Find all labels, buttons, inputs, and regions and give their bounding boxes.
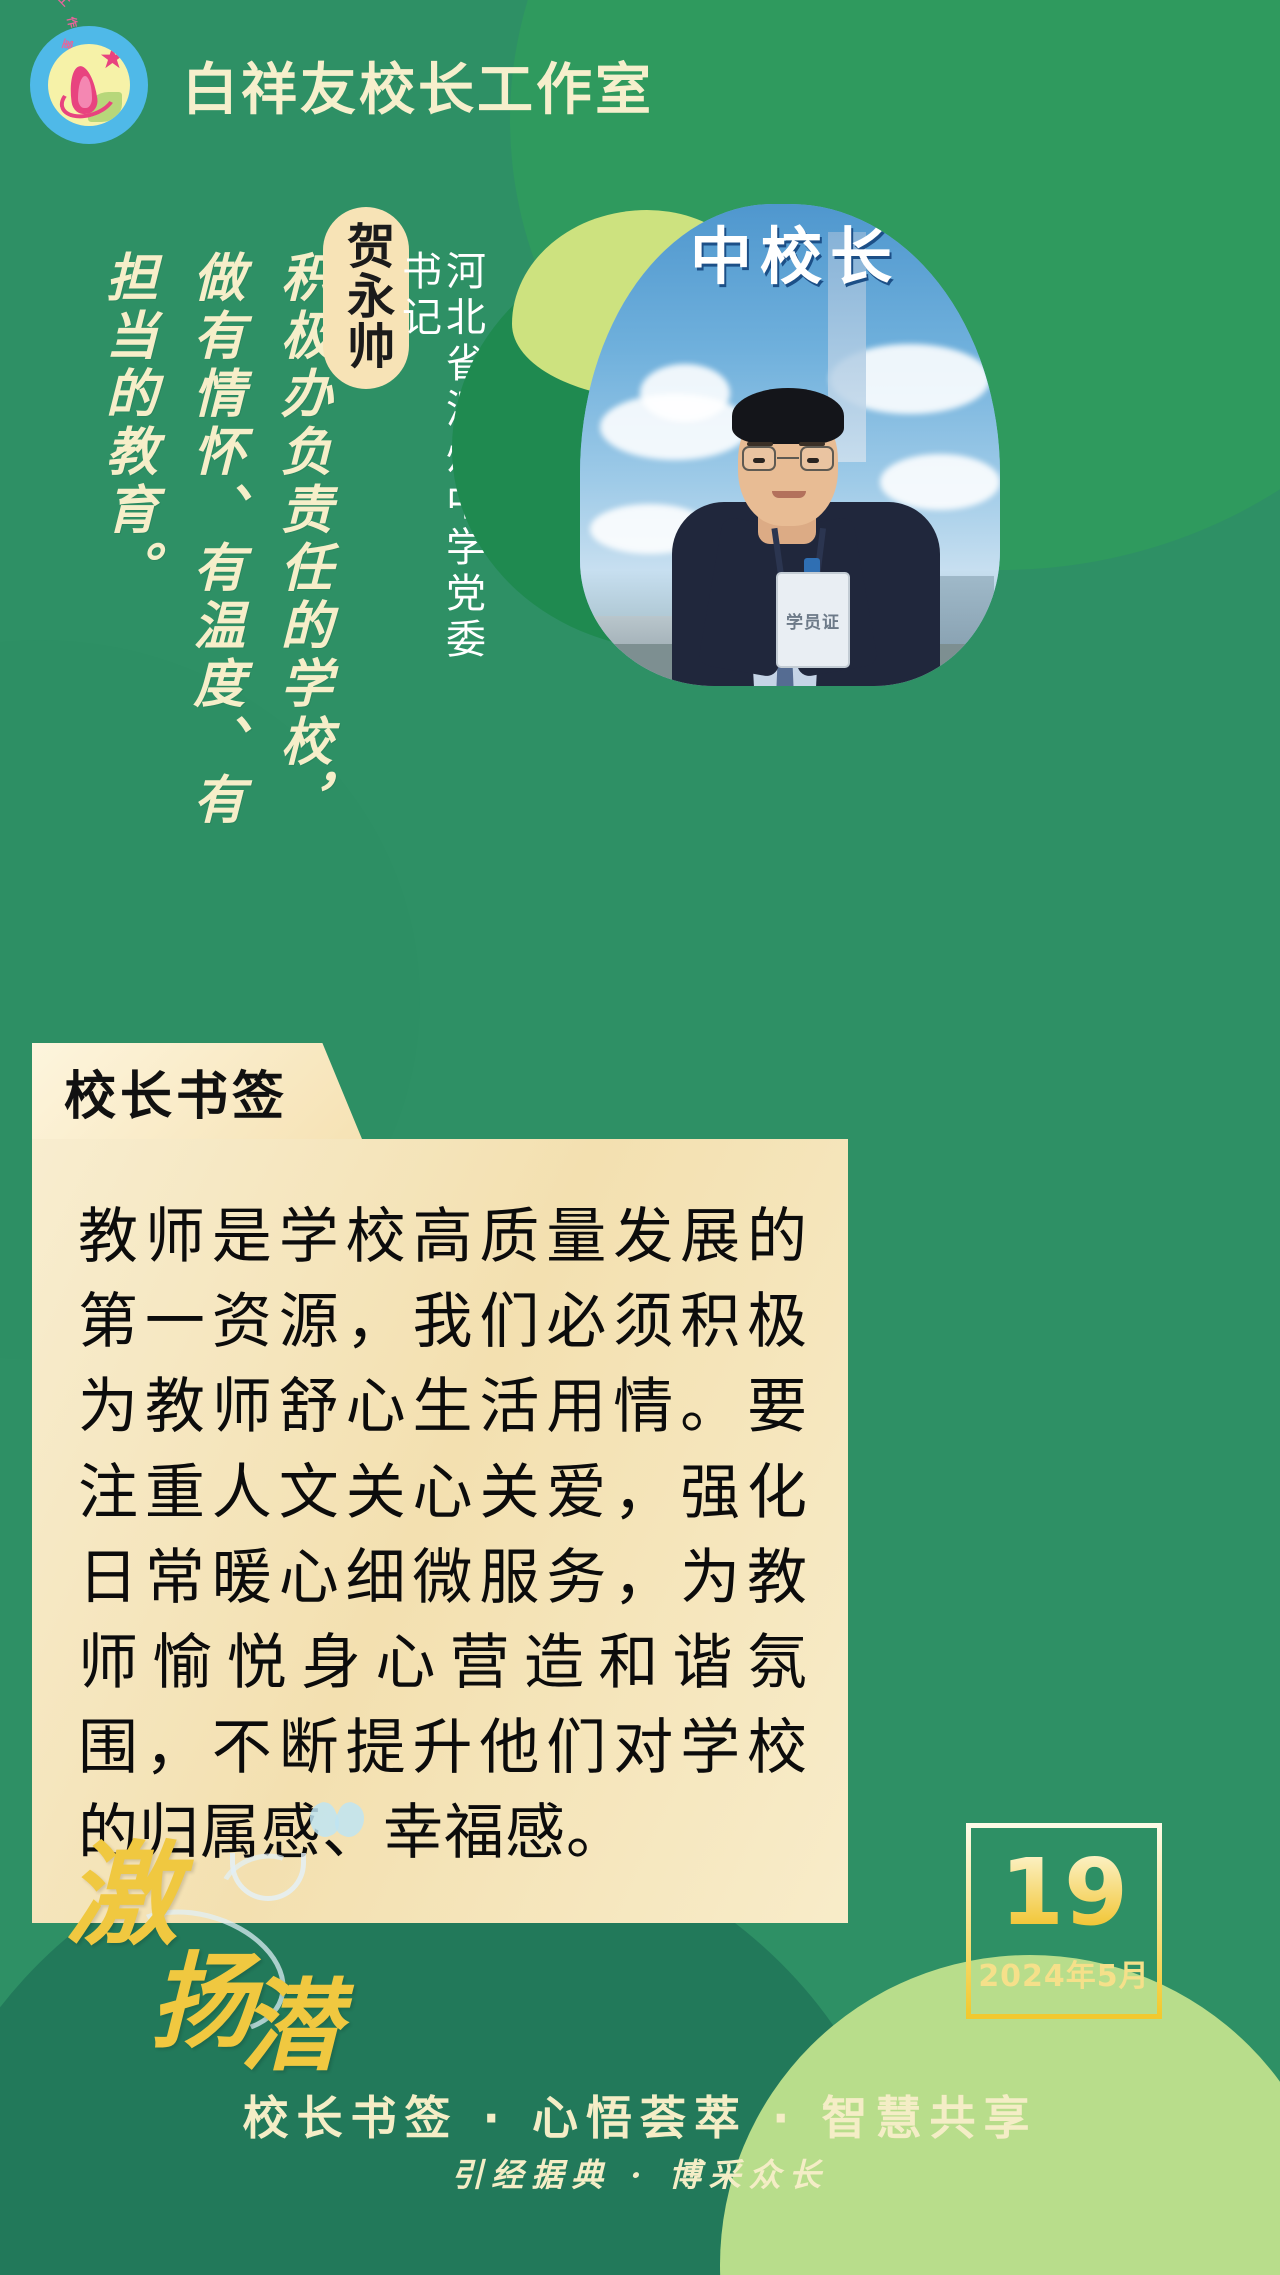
photo-cloud [640,364,730,422]
id-badge: 学员证 [776,572,850,668]
studio-logo-icon: 深州名校长工作室 [30,26,148,144]
brand-char-3: 潜 [240,1945,340,2090]
person-hair [732,388,844,444]
bookmark-quote-text: 教师是学校高质量发展的第一资源，我们必须积极为教师舒心生活用情。要注重人文关心关… [78,1195,808,1877]
person-eye-right [807,458,819,463]
footer-tagline-main: 校长书签 · 心悟荟萃 · 智慧共享 [0,2082,1280,2148]
brand-calligraphy: 激 扬 潜 [58,1795,388,2035]
bookmark-tab: 校长书签 [32,1043,362,1139]
motto-column-2: 做有情怀、有温度、有 [183,250,244,830]
person-mouth [772,491,806,498]
photo-banner-text: 中校长 [660,206,1000,302]
date-year-month: 2024年5月 [978,1951,1149,1995]
person-eye-left [753,458,765,463]
photo-cloud [880,454,1000,510]
butterfly-icon [310,1803,364,1847]
poster-canvas: 深州名校长工作室 白祥友校长工作室 积极办负责任的学校， 做有情怀、有温度、有 … [0,0,1280,2275]
vertical-motto: 积极办负责任的学校， 做有情怀、有温度、有 担当的教育。 [96,250,332,830]
date-day: 19 [1000,1847,1128,1939]
person-name: 贺永帅 [341,221,391,371]
poster-header: 深州名校长工作室 白祥友校长工作室 [0,0,1280,170]
person-photo: 中校长 主办 省教育厅 大学 学员证 [580,204,1000,686]
bookmark-tab-label: 校长书签 [64,1054,288,1129]
motto-column-3: 担当的教育。 [96,250,157,830]
page-title: 白祥友校长工作室 [182,45,654,126]
footer-tagline-sub: 引经据典 · 博采众长 [0,2150,1280,2196]
logo-inner-circle [48,44,130,126]
brand-char-2: 扬 [150,1917,254,2068]
portrait-container: 中校长 主办 省教育厅 大学 学员证 [452,196,1132,696]
date-badge: 19 2024年5月 [966,1823,1162,2019]
id-badge-label: 学员证 [786,608,840,633]
